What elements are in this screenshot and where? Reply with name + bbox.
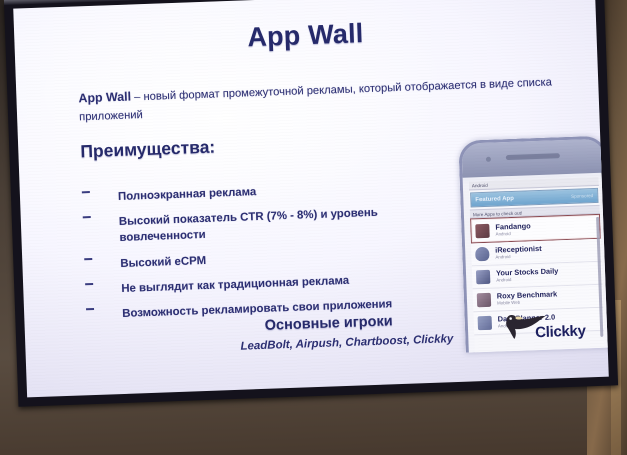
list-item: Высокий eCPM (84, 243, 464, 273)
earpiece-speaker-icon (506, 153, 560, 160)
app-platform: Android (495, 254, 542, 261)
projected-slide: App Wall App Wall – новый формат промежу… (13, 0, 609, 397)
featured-app-banner[interactable]: Featured App Sponsored (470, 188, 598, 208)
featured-app-label: Featured App (475, 195, 514, 202)
list-item-label: Высокий показатель CTR (7% - 8%) и урове… (119, 207, 378, 244)
bullet-dash-icon (86, 308, 94, 310)
benefits-list: Полноэкранная реклама Высокий показатель… (82, 177, 467, 333)
app-icon-fandango (475, 223, 489, 237)
app-icon-ireceptionist (475, 247, 489, 261)
bullet-dash-icon (84, 258, 92, 260)
app-icon-data-planner (478, 316, 492, 330)
clickky-logo: Clickky (502, 306, 600, 353)
clickky-wordmark: Clickky (535, 322, 586, 341)
bullet-dash-icon (85, 283, 93, 285)
app-name: iReceptionist (495, 245, 542, 255)
benefits-heading: Преимущества: (80, 137, 216, 163)
app-name: Fandango (495, 222, 531, 231)
phone-top-bezel (461, 139, 604, 178)
app-icon-roxy-benchmark (477, 293, 491, 307)
app-icon-your-stocks-daily (476, 270, 490, 284)
list-item-label: Полноэкранная реклама (118, 186, 257, 203)
app-platform: Android (496, 231, 531, 237)
list-item-label: Высокий eCPM (120, 255, 206, 270)
front-camera-icon (486, 157, 491, 162)
room-photo-scene: App Wall App Wall – новый формат промежу… (0, 0, 627, 455)
intro-paragraph: App Wall – новый формат промежуточной ре… (78, 71, 569, 127)
list-item: Полноэкранная реклама (82, 177, 462, 207)
intro-rest-text: – новый формат промежуточной рекламы, ко… (79, 76, 552, 123)
list-item: Не выглядит как традиционная реклама (85, 268, 465, 298)
list-item: Высокий показатель CTR (7% - 8%) и урове… (83, 202, 464, 248)
bullet-dash-icon (82, 191, 90, 193)
key-players-list: LeadBolt, Airpush, Chartboost, Clickky (240, 333, 453, 353)
app-platform: Mobile Web (497, 300, 558, 307)
projection-board: App Wall App Wall – новый формат промежу… (4, 0, 618, 407)
list-item-label: Не выглядит как традиционная реклама (121, 275, 349, 295)
page-title: App Wall (14, 10, 597, 62)
app-platform: Android (496, 276, 558, 283)
featured-app-sponsored-label: Sponsored (571, 193, 593, 199)
intro-lead-term: App Wall (78, 90, 131, 106)
bullet-dash-icon (83, 216, 91, 218)
key-players-heading: Основные игроки (264, 313, 392, 334)
